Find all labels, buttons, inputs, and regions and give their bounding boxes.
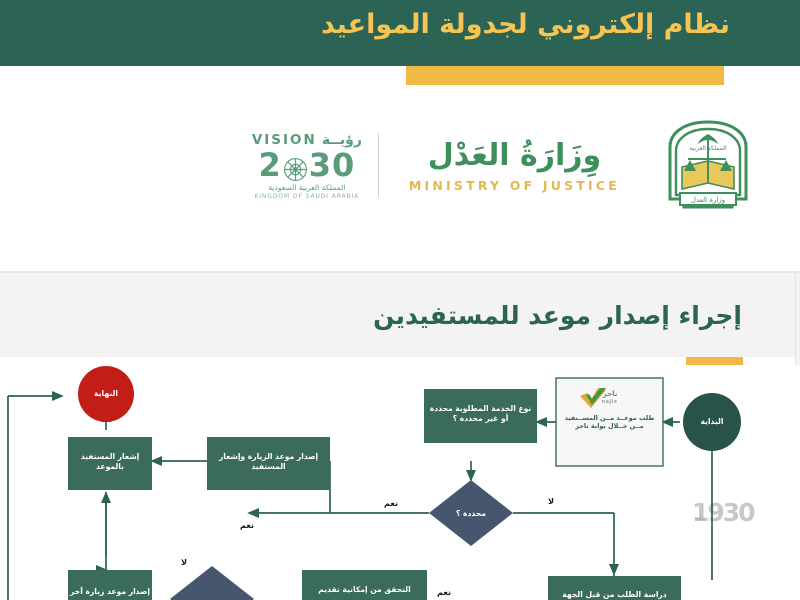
node-decision-second [170, 566, 254, 600]
ministry-name-en: MINISTRY OF JUSTICE [409, 178, 620, 193]
ministry-of-justice-crest-icon: المملكة العربية وزارة العدل [656, 113, 760, 217]
najiz-logo-icon: ناجز najiz [578, 387, 641, 409]
vision-2030-logo: VISION رؤيــة 2 [252, 130, 362, 200]
vision-sub-en: KINGDOM OF SAUDI ARABIA [252, 193, 362, 200]
node-end [78, 366, 134, 422]
node-start [683, 393, 741, 451]
header-accent-bar [406, 66, 724, 85]
node-najiz-label: طلب موعــد مــن المســتفيد مــن خــلال ب… [558, 414, 661, 431]
section-title: إجراء إصدار موعد للمستفيدين [42, 301, 742, 330]
edge-label-yes-3: نعم [437, 587, 451, 597]
ministry-wordmark: وِزَارَةُ العَدْل MINISTRY OF JUSTICE [395, 138, 634, 193]
ministry-name-ar: وِزَارَةُ العَدْل [409, 138, 620, 174]
logo-divider [378, 133, 379, 197]
svg-text:المملكة العربية: المملكة العربية [689, 145, 727, 152]
node-study-request [548, 576, 681, 600]
najiz-check-icon [578, 387, 608, 409]
node-reissue-visit [68, 570, 152, 600]
edge-label-no-2: لا [181, 557, 187, 567]
page-title: نظام إلكتروني لجدولة المواعيد [70, 8, 730, 42]
edge-label-yes-2: نعم [240, 520, 254, 530]
section-accent-bar [686, 357, 743, 365]
edge-label-no-1: لا [548, 496, 554, 506]
vision-number-left: 2 [258, 148, 281, 182]
node-issue-visit [207, 437, 330, 490]
flowchart-svg [0, 365, 800, 600]
vision-number-right: 30 [309, 148, 356, 182]
flowchart-canvas: البداية ناجز najiz طلب موعــد مــن المسـ… [0, 365, 800, 600]
vision-sub-ar: المملكة العربية السعودية [252, 183, 362, 192]
node-verify-possibility [302, 570, 427, 600]
edge-label-yes-1: نعم [384, 498, 398, 508]
logo-strip: المملكة العربية وزارة العدل وِزَارَةُ ال… [0, 85, 800, 271]
page-root: نظام إلكتروني لجدولة المواعيد المملكة ال… [0, 0, 800, 600]
logo-row: المملكة العربية وزارة العدل وِزَارَةُ ال… [252, 113, 760, 217]
vision-number: 2 30 [252, 148, 362, 182]
node-notify-beneficiary [68, 437, 152, 490]
node-service-type [424, 389, 537, 443]
vision-star-icon [283, 154, 308, 179]
svg-text:وزارة العدل: وزارة العدل [691, 196, 725, 204]
node-decision-specified [429, 480, 513, 546]
